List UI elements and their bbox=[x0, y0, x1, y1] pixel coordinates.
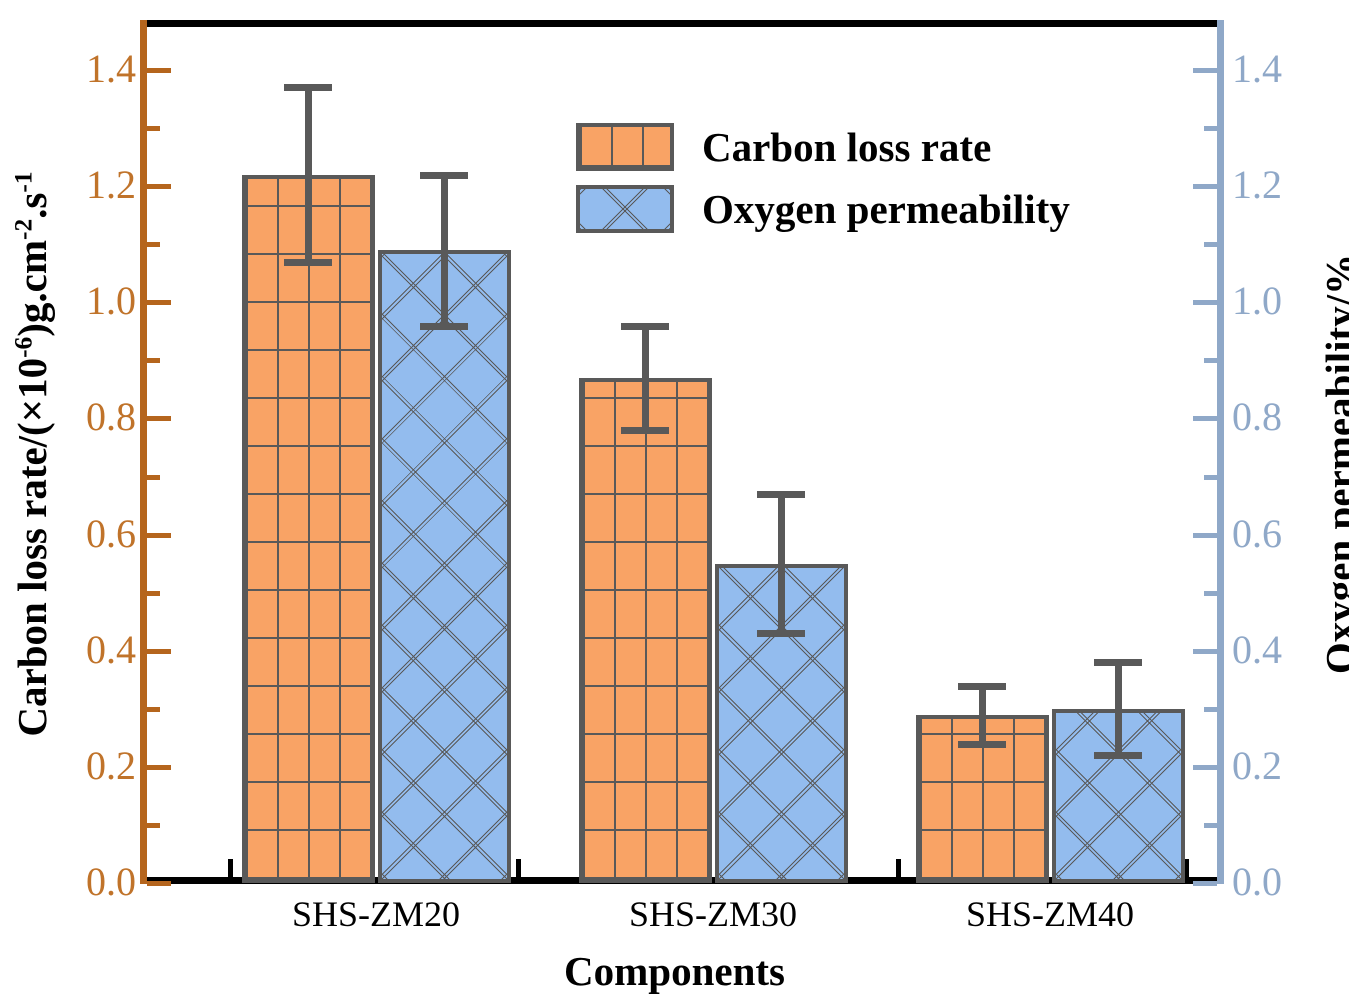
y2-axis-minor-tick bbox=[1204, 591, 1217, 596]
y-axis-tick-label: 0.2 bbox=[86, 746, 136, 786]
y2-axis-tick-label: 0.8 bbox=[1232, 397, 1282, 437]
bar-oxygen-permeability-SHS-ZM20 bbox=[378, 250, 511, 883]
y2-axis-tick-label: 0.2 bbox=[1232, 746, 1282, 786]
y2-axis-minor-tick bbox=[1204, 126, 1217, 131]
error-bar-stem bbox=[441, 175, 448, 326]
bar-carbon-loss-rate-SHS-ZM30 bbox=[579, 378, 712, 883]
error-bar-stem bbox=[642, 326, 649, 431]
error-bar-cap-upper bbox=[284, 84, 332, 91]
y-axis-tick-label: 1.4 bbox=[86, 49, 136, 89]
y2-axis-major-tick bbox=[1193, 533, 1217, 538]
error-bar-cap-lower bbox=[1094, 752, 1142, 759]
y-axis-major-tick bbox=[147, 881, 171, 886]
y2-axis-minor-tick bbox=[1204, 823, 1217, 828]
y-axis-major-tick bbox=[147, 416, 171, 421]
y-axis-major-tick bbox=[147, 533, 171, 538]
error-bar-cap-upper bbox=[1094, 659, 1142, 666]
legend-swatch-oxygen-permeability bbox=[576, 185, 674, 233]
error-bar-cap-upper bbox=[621, 323, 669, 330]
y-axis-minor-tick bbox=[147, 242, 160, 247]
y2-axis-major-tick bbox=[1193, 184, 1217, 189]
axis-frame-left bbox=[140, 20, 147, 884]
y-axis-title-left-text: Carbon loss rate/(×10-6)g.cm-2.s-1 bbox=[9, 171, 55, 736]
y2-axis-tick-label: 1.4 bbox=[1232, 49, 1282, 89]
y-axis-minor-tick bbox=[147, 823, 160, 828]
error-bar-stem bbox=[778, 494, 785, 633]
y2-axis-minor-tick bbox=[1204, 242, 1217, 247]
y-axis-major-tick bbox=[147, 300, 171, 305]
y-axis-tick-label: 0.8 bbox=[86, 397, 136, 437]
x-axis-category-label-SHS-ZM40: SHS-ZM40 bbox=[890, 893, 1210, 935]
x-axis-tick bbox=[1184, 859, 1189, 877]
y-axis-title-right: Oxygen permeability/% bbox=[1316, 54, 1349, 874]
y2-axis-major-tick bbox=[1193, 300, 1217, 305]
bar-carbon-loss-rate-SHS-ZM20 bbox=[242, 175, 375, 883]
y2-axis-tick-label: 0.0 bbox=[1232, 862, 1282, 902]
error-bar-cap-lower bbox=[420, 323, 468, 330]
error-bar-stem bbox=[979, 686, 986, 744]
y2-axis-major-tick bbox=[1193, 649, 1217, 654]
chart-figure: 1.41.41.21.21.01.00.80.80.60.60.40.40.20… bbox=[0, 0, 1349, 1004]
error-bar-cap-lower bbox=[284, 259, 332, 266]
y-axis-tick-label: 1.0 bbox=[86, 281, 136, 321]
y-axis-tick-label: 0.4 bbox=[86, 630, 136, 670]
legend-swatch-carbon-loss-rate bbox=[576, 123, 674, 171]
error-bar-cap-upper bbox=[757, 491, 805, 498]
legend-item-carbon-loss-rate: Carbon loss rate bbox=[576, 118, 1070, 176]
error-bar-cap-lower bbox=[958, 741, 1006, 748]
error-bar-stem bbox=[1115, 662, 1122, 755]
x-axis-tick bbox=[516, 859, 521, 877]
error-bar-cap-upper bbox=[958, 683, 1006, 690]
legend-item-oxygen-permeability: Oxygen permeability bbox=[576, 180, 1070, 238]
y2-axis-minor-tick bbox=[1204, 475, 1217, 480]
y-axis-major-tick bbox=[147, 68, 171, 73]
y-axis-minor-tick bbox=[147, 475, 160, 480]
y-axis-tick-label: 1.2 bbox=[86, 165, 136, 205]
error-bar-cap-upper bbox=[420, 172, 468, 179]
x-axis-category-label-SHS-ZM30: SHS-ZM30 bbox=[553, 893, 873, 935]
legend-label-oxygen-permeability: Oxygen permeability bbox=[702, 185, 1070, 233]
y2-axis-tick-label: 1.2 bbox=[1232, 165, 1282, 205]
y-axis-major-tick bbox=[147, 765, 171, 770]
y2-axis-tick-label: 1.0 bbox=[1232, 281, 1282, 321]
y-axis-minor-tick bbox=[147, 707, 160, 712]
error-bar-stem bbox=[305, 87, 312, 261]
y-axis-minor-tick bbox=[147, 126, 160, 131]
y-axis-minor-tick bbox=[147, 591, 160, 596]
legend-label-carbon-loss-rate: Carbon loss rate bbox=[702, 123, 991, 171]
y-axis-major-tick bbox=[147, 649, 171, 654]
y-axis-minor-tick bbox=[147, 358, 160, 363]
axis-frame-right bbox=[1217, 20, 1224, 884]
x-axis-category-label-SHS-ZM20: SHS-ZM20 bbox=[216, 893, 536, 935]
y-axis-tick-label: 0.6 bbox=[86, 514, 136, 554]
y2-axis-major-tick bbox=[1193, 765, 1217, 770]
y-axis-tick-label: 0.0 bbox=[86, 862, 136, 902]
x-axis-tick bbox=[896, 859, 901, 877]
y2-axis-minor-tick bbox=[1204, 358, 1217, 363]
error-bar-cap-lower bbox=[621, 427, 669, 434]
y2-axis-major-tick bbox=[1193, 68, 1217, 73]
y2-axis-tick-label: 0.6 bbox=[1232, 514, 1282, 554]
y2-axis-minor-tick bbox=[1204, 707, 1217, 712]
axis-frame-top bbox=[146, 20, 1218, 27]
y-axis-major-tick bbox=[147, 184, 171, 189]
chart-legend: Carbon loss rate Oxygen permeability bbox=[576, 118, 1070, 242]
y2-axis-tick-label: 0.4 bbox=[1232, 630, 1282, 670]
x-axis-title: Components bbox=[0, 947, 1349, 995]
error-bar-cap-lower bbox=[757, 630, 805, 637]
x-axis-tick bbox=[228, 859, 233, 877]
y2-axis-major-tick bbox=[1193, 881, 1217, 886]
y2-axis-major-tick bbox=[1193, 416, 1217, 421]
y-axis-title-left: Carbon loss rate/(×10-6)g.cm-2.s-1 bbox=[8, 44, 56, 864]
